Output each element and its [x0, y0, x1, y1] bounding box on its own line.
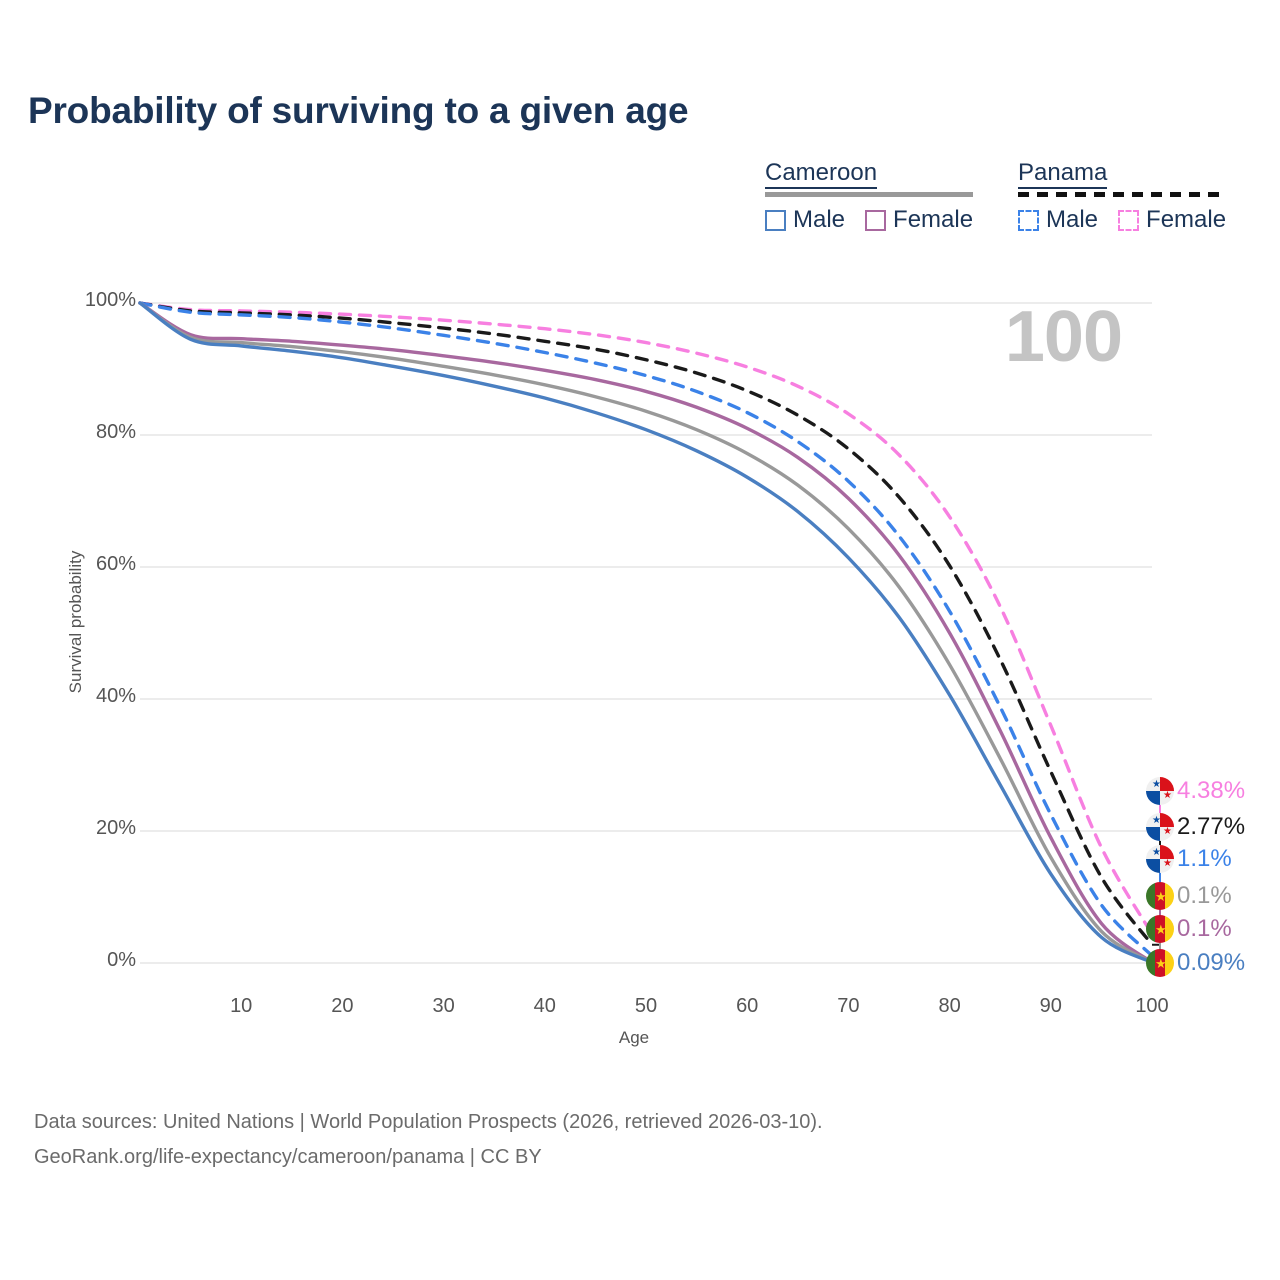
panama-flag-icon: ★★ [1146, 777, 1174, 805]
series-line [140, 303, 1152, 945]
series-end-label: ★★2.77% [1146, 812, 1245, 842]
x-axis-tick-label: 20 [302, 995, 382, 1018]
series-end-label: ★★4.38% [1146, 776, 1245, 806]
series-line [140, 303, 1152, 956]
series-line [140, 303, 1152, 962]
plot-area: 100 Survival probability Age 0%20%40%60%… [0, 0, 1280, 1280]
x-axis-tick-label: 40 [505, 995, 585, 1018]
x-axis-tick-label: 30 [404, 995, 484, 1018]
footer-sources: Data sources: United Nations | World Pop… [34, 1105, 823, 1175]
series-end-label: ★0.09% [1146, 948, 1245, 978]
x-axis-tick-label: 10 [201, 995, 281, 1018]
y-axis-label: Survival probability [66, 492, 86, 752]
cameroon-flag-icon: ★ [1146, 915, 1174, 943]
x-axis-tick-label: 50 [606, 995, 686, 1018]
series-line [140, 303, 1152, 962]
y-axis-tick-label: 60% [26, 553, 136, 576]
series-line [140, 303, 1152, 934]
y-axis-tick-label: 80% [26, 421, 136, 444]
series-end-value: 2.77% [1177, 813, 1245, 841]
plot-svg [0, 0, 1280, 1280]
panama-flag-icon: ★★ [1146, 845, 1174, 873]
series-end-label: ★0.1% [1146, 881, 1232, 911]
x-axis-tick-label: 60 [707, 995, 787, 1018]
y-axis-tick-label: 100% [26, 289, 136, 312]
series-end-label: ★0.1% [1146, 914, 1232, 944]
x-axis-tick-label: 90 [1011, 995, 1091, 1018]
series-line [140, 303, 1152, 962]
series-end-label: ★★1.1% [1146, 844, 1232, 874]
y-axis-tick-label: 20% [26, 817, 136, 840]
cameroon-flag-icon: ★ [1146, 949, 1174, 977]
series-end-value: 0.1% [1177, 915, 1232, 943]
chart-watermark: 100 [1005, 296, 1122, 378]
x-axis-label: Age [0, 1028, 1280, 1048]
series-end-labels: ★★4.38%★★2.77%★★1.1%★0.1%★0.1%★0.09% [1146, 776, 1280, 976]
series-end-value: 0.1% [1177, 882, 1232, 910]
y-axis-tick-label: 0% [26, 949, 136, 972]
series-end-value: 4.38% [1177, 777, 1245, 805]
footer-line-2: GeoRank.org/life-expectancy/cameroon/pan… [34, 1140, 823, 1175]
x-axis-tick-label: 80 [910, 995, 990, 1018]
panama-flag-icon: ★★ [1146, 813, 1174, 841]
x-axis-tick-label: 70 [808, 995, 888, 1018]
cameroon-flag-icon: ★ [1146, 882, 1174, 910]
chart-root: Probability of surviving to a given age … [0, 0, 1280, 1280]
footer-line-1: Data sources: United Nations | World Pop… [34, 1105, 823, 1140]
y-axis-tick-label: 40% [26, 685, 136, 708]
series-end-value: 0.09% [1177, 949, 1245, 977]
x-axis-tick-label: 100 [1112, 995, 1192, 1018]
series-end-value: 1.1% [1177, 845, 1232, 873]
